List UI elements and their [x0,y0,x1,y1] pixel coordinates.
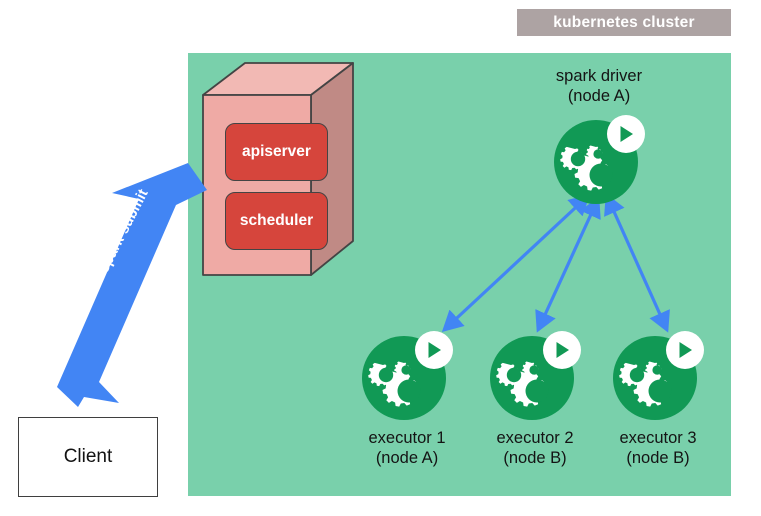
gears-play-icon [553,113,645,205]
gears-play-icon [612,329,704,421]
apiserver-label: apiserver [242,143,311,161]
kubernetes-cluster-badge: kubernetes cluster [517,9,731,36]
executor-1-node[interactable] [361,329,453,421]
executor-2-placement: (node B) [469,448,601,468]
executor-3-name: executor 3 [592,428,724,448]
executor-2-label: executor 2 (node B) [469,428,601,468]
executor-2-name: executor 2 [469,428,601,448]
spark-driver-label: spark driver (node A) [523,66,675,106]
spark-driver-node[interactable] [553,113,645,205]
spark-driver-placement: (node A) [523,86,675,106]
client-label: Client [64,446,113,468]
kubernetes-cluster-badge-label: kubernetes cluster [553,14,694,32]
gears-play-icon [361,329,453,421]
gears-play-icon [489,329,581,421]
executor-1-placement: (node A) [341,448,473,468]
spark-driver-name: spark driver [523,66,675,86]
executor-1-name: executor 1 [341,428,473,448]
executor-3-placement: (node B) [592,448,724,468]
executor-3-node[interactable] [612,329,704,421]
executor-3-label: executor 3 (node B) [592,428,724,468]
scheduler-label: scheduler [240,212,313,230]
control-plane-cube: apiserver scheduler [203,63,353,278]
executor-2-node[interactable] [489,329,581,421]
apiserver-component[interactable]: apiserver [225,123,328,181]
executor-1-label: executor 1 (node A) [341,428,473,468]
diagram-canvas: kubernetes cluster apiserver scheduler [0,0,761,516]
client-box[interactable]: Client [18,417,158,497]
scheduler-component[interactable]: scheduler [225,192,328,250]
